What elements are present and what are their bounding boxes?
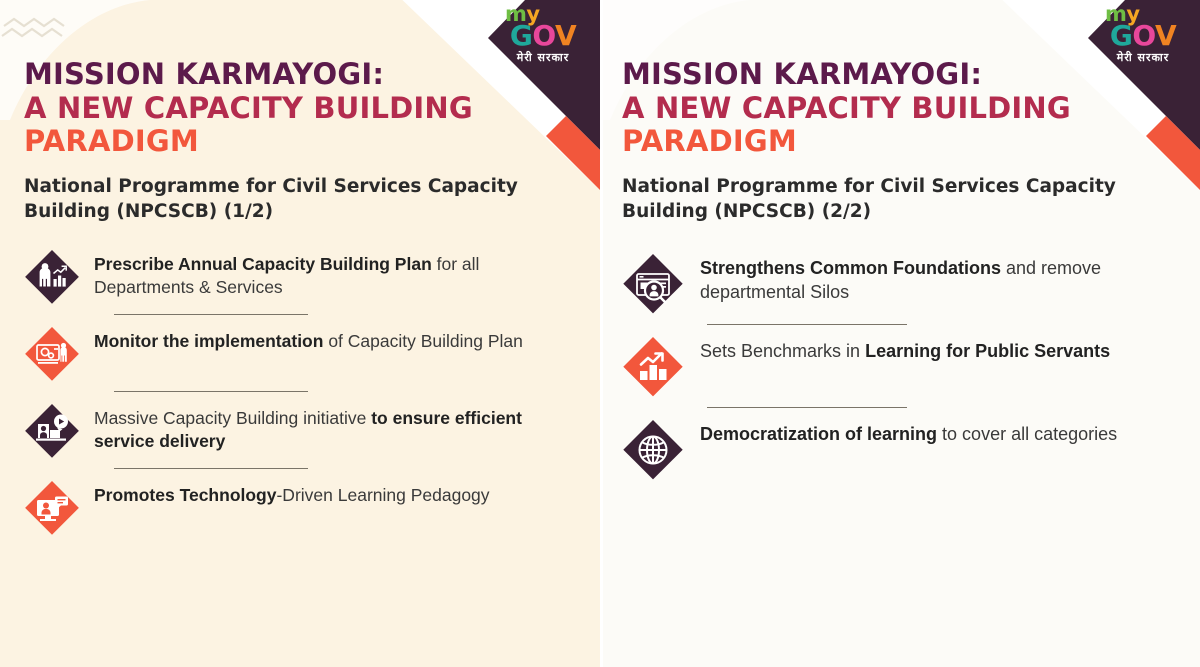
panel-npcscb-part-2: my GOV मेरी सरकार MISSION KARMAYOGI: A N…	[600, 0, 1200, 667]
list-item-label: Strengthens Common Foundations and remov…	[700, 251, 1148, 305]
title-line-1: MISSION KARMAYOGI:	[622, 58, 1200, 92]
presentation-board-gears-icon	[24, 326, 80, 382]
list-item-lead: Democratization of learning	[700, 424, 937, 444]
list-item: Massive Capacity Building initiative to …	[24, 401, 600, 459]
monitor-chat-learning-icon	[24, 480, 80, 536]
list-item-tail: to cover all categories	[937, 424, 1117, 444]
list-item-lead: Promotes Technology	[94, 485, 276, 505]
growth-bar-chart-icon	[622, 336, 684, 398]
list-item-label: Massive Capacity Building initiative to …	[94, 401, 546, 454]
page-subtitle-right: National Programme for Civil Services Ca…	[622, 175, 1122, 225]
list-divider	[707, 407, 907, 408]
list-item-label: Democratization of learning to cover all…	[700, 417, 1117, 447]
list-item-tail: Learning for Public Servants	[865, 341, 1110, 361]
page-title-left: MISSION KARMAYOGI: A NEW CAPACITY BUILDI…	[24, 58, 600, 159]
infographic-board: my GOV मेरी सरकार MISSION KARMAYOGI: A N…	[0, 0, 1200, 667]
list-item: Prescribe Annual Capacity Building Plan …	[24, 247, 600, 305]
title-line-3: PARADIGM	[24, 125, 600, 159]
list-item: Monitor the implementation of Capacity B…	[24, 324, 600, 382]
list-item-label: Prescribe Annual Capacity Building Plan …	[94, 247, 546, 300]
list-item-lead: Strengthens Common Foundations	[700, 258, 1001, 278]
feature-list-left: Prescribe Annual Capacity Building Plan …	[24, 247, 600, 536]
list-item-lead: Prescribe Annual Capacity Building Plan	[94, 254, 432, 274]
list-item-label: Promotes Technology-Driven Learning Peda…	[94, 478, 490, 507]
video-lecture-screen-icon	[24, 403, 80, 459]
panel-npcscb-part-1: my GOV मेरी सरकार MISSION KARMAYOGI: A N…	[0, 0, 600, 667]
list-item: Democratization of learning to cover all…	[622, 417, 1200, 481]
list-divider	[114, 468, 308, 469]
panel-content-right: MISSION KARMAYOGI: A NEW CAPACITY BUILDI…	[600, 0, 1200, 481]
list-item-tail: -Driven Learning Pedagogy	[276, 485, 489, 505]
list-item-label: Monitor the implementation of Capacity B…	[94, 324, 523, 353]
list-item-lead: Sets Benchmarks in	[700, 341, 865, 361]
list-divider	[114, 314, 308, 315]
globe-icon	[622, 419, 684, 481]
profile-search-card-icon	[622, 253, 684, 315]
list-item: Strengthens Common Foundations and remov…	[622, 251, 1200, 315]
list-item: Sets Benchmarks in Learning for Public S…	[622, 334, 1200, 398]
list-item: Promotes Technology-Driven Learning Peda…	[24, 478, 600, 536]
title-line-2: A NEW CAPACITY BUILDING	[24, 92, 600, 126]
page-subtitle-left: National Programme for Civil Services Ca…	[24, 175, 524, 225]
feature-list-right: Strengthens Common Foundations and remov…	[622, 251, 1200, 481]
list-item-tail: of Capacity Building Plan	[323, 331, 522, 351]
title-line-2: A NEW CAPACITY BUILDING	[622, 92, 1200, 126]
page-title-right: MISSION KARMAYOGI: A NEW CAPACITY BUILDI…	[622, 58, 1200, 159]
title-line-3: PARADIGM	[622, 125, 1200, 159]
list-item-lead: Massive Capacity Building initiative	[94, 408, 371, 428]
panel-content-left: MISSION KARMAYOGI: A NEW CAPACITY BUILDI…	[0, 0, 600, 536]
list-divider	[707, 324, 907, 325]
person-with-bar-chart-icon	[24, 249, 80, 305]
list-item-lead: Monitor the implementation	[94, 331, 323, 351]
list-item-label: Sets Benchmarks in Learning for Public S…	[700, 334, 1110, 364]
list-divider	[114, 391, 308, 392]
panel-seam-divider	[600, 0, 603, 667]
title-line-1: MISSION KARMAYOGI:	[24, 58, 600, 92]
